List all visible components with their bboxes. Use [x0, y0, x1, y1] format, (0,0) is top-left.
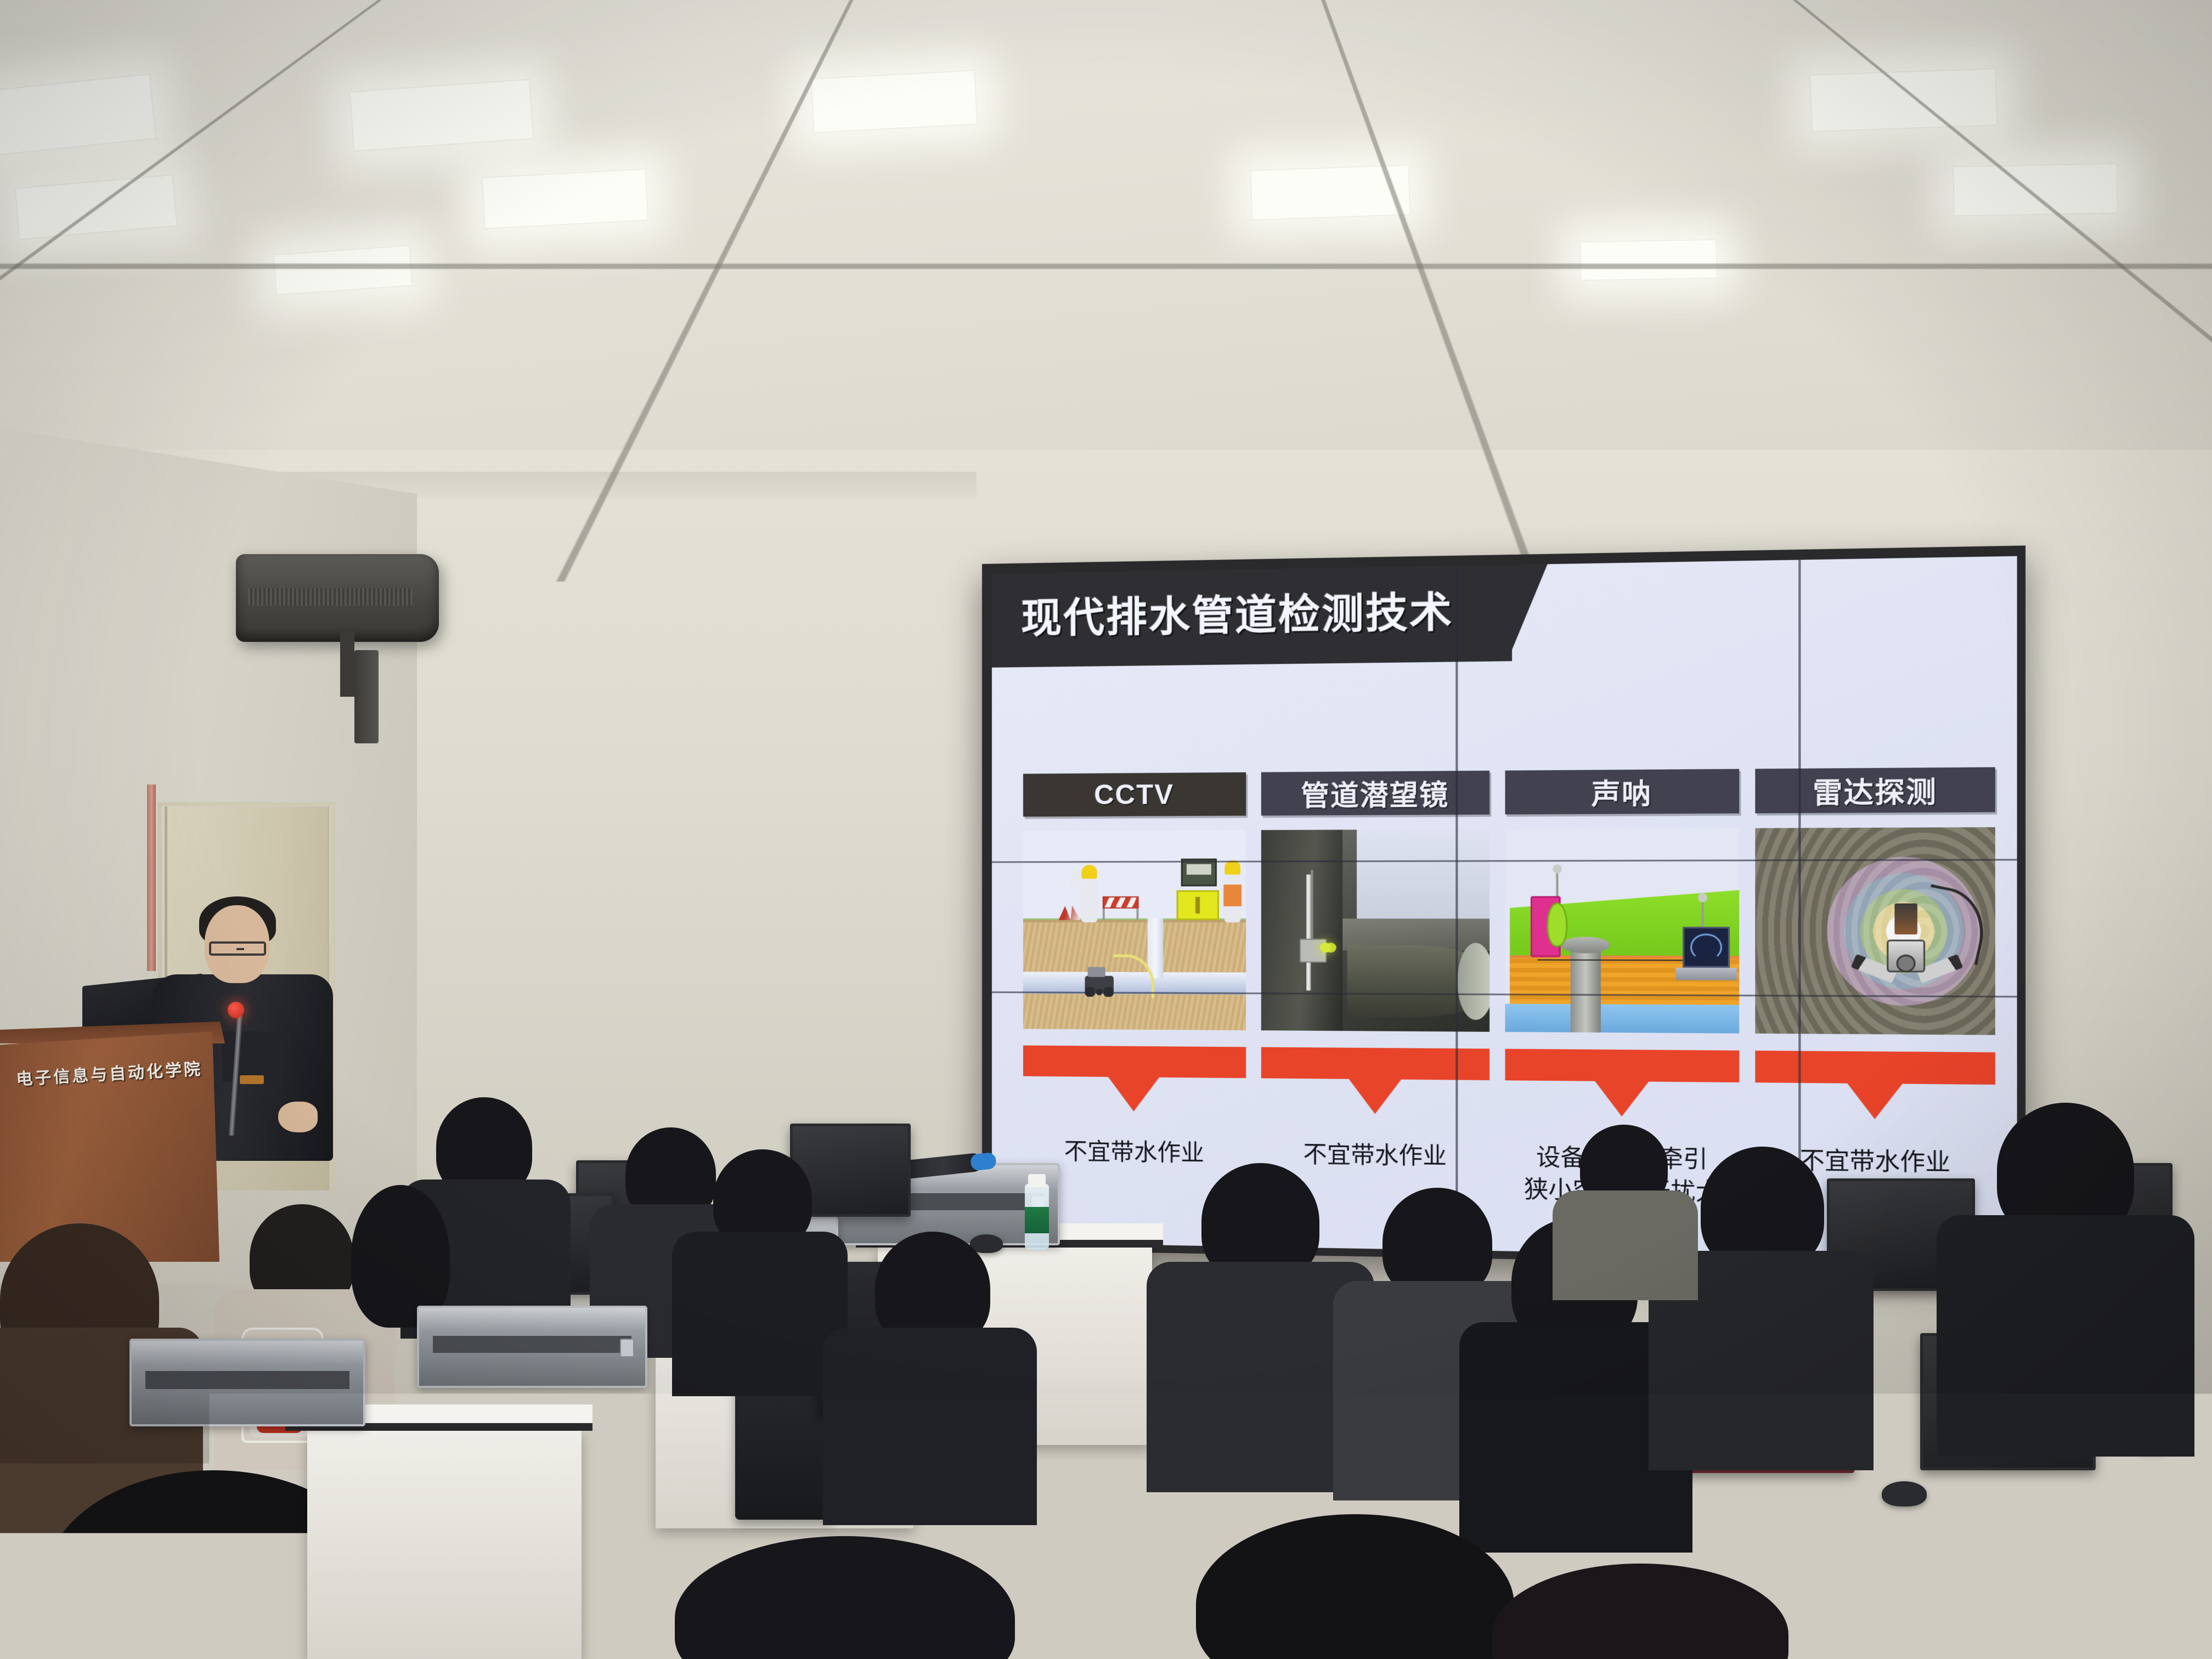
computer-mouse[interactable] [1882, 1481, 1927, 1506]
equipment-case [129, 1339, 365, 1426]
periscope-illustration [1261, 830, 1489, 1032]
column-caption: 不宜带水作业 [1261, 1138, 1489, 1173]
column-header-radar: 雷达探测 [1756, 768, 1996, 814]
column-header-label: 声呐 [1592, 771, 1652, 812]
ceiling-light-panel [811, 70, 978, 133]
ceiling-light-panel [1953, 163, 2118, 216]
column-header-periscope: 管道潜望镜 [1261, 771, 1489, 816]
pipe-crawler-robot-icon [1085, 976, 1114, 992]
ceiling-light-panel [1250, 165, 1410, 221]
wall-speaker [236, 554, 439, 642]
jacket-logo-icon [240, 1075, 264, 1084]
video-wall-screen[interactable]: 现代排水管道检测技术 CCTV [992, 556, 2017, 1260]
sonar-laptop-icon [1683, 927, 1730, 968]
slide-title: 现代排水管道检测技术 [1021, 578, 1453, 644]
video-wall[interactable]: 现代排水管道检测技术 CCTV [982, 545, 2025, 1268]
red-down-arrow-icon [1023, 1046, 1246, 1113]
ceiling-light-panel [1579, 239, 1717, 281]
audience-person [1937, 1215, 2194, 1457]
red-down-arrow-icon [1261, 1047, 1489, 1115]
radar-robot-icon [1858, 927, 1955, 1018]
column-header-label: CCTV [1094, 778, 1174, 811]
slide-column-periscope: 管道潜望镜 [1261, 771, 1489, 1237]
audience-person [1953, 1531, 2212, 1659]
case-latch-icon [620, 1339, 634, 1357]
red-down-arrow-icon [1756, 1051, 1996, 1120]
bottle-label [1025, 1207, 1049, 1233]
speaker-mount-arm [340, 631, 354, 697]
slide-title-band: 现代排水管道检测技术 [992, 556, 1512, 668]
audience-person [1553, 1190, 1698, 1300]
column-header-label: 雷达探测 [1813, 770, 1937, 812]
glasses-icon [209, 941, 266, 956]
microphone-led-icon [228, 1002, 244, 1018]
sonar-illustration [1505, 828, 1740, 1034]
radar-photo [1756, 827, 1996, 1035]
speaker-badge-icon [328, 589, 345, 605]
ceiling-light-panel [1809, 68, 1997, 132]
bottle-cap-icon [1028, 1174, 1046, 1187]
cctv-illustration [1023, 831, 1246, 1031]
ceiling-light-panel [349, 79, 534, 152]
equipment-case [417, 1306, 647, 1388]
lecture-hall-scene: 现代排水管道检测技术 CCTV [0, 0, 2212, 1659]
slide-columns: CCTV [1023, 768, 1995, 1245]
presentation-slide: 现代排水管道检测技术 CCTV [992, 556, 2017, 1260]
audience-person [675, 1536, 1015, 1659]
audience-person [672, 1232, 848, 1396]
column-header-label: 管道潜望镜 [1301, 773, 1449, 814]
column-header-cctv: CCTV [1023, 772, 1246, 817]
desk [307, 1431, 582, 1659]
red-down-arrow-icon [1505, 1049, 1740, 1118]
speaker-wall-plate [354, 650, 379, 743]
audience-person [823, 1328, 1037, 1525]
ceiling-light-panel [482, 168, 649, 229]
column-header-sonar: 声呐 [1505, 769, 1740, 815]
audience-person [1492, 1564, 1788, 1659]
